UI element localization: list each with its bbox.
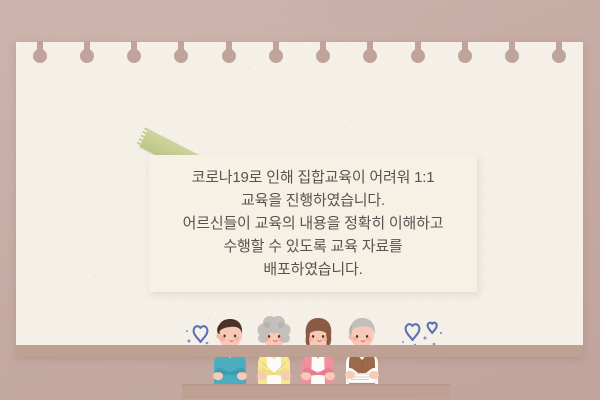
punch-hole bbox=[79, 41, 94, 63]
message-line: 수행할 수 있도록 교육 자료를 bbox=[223, 235, 402, 258]
notebook-paper-sheet: 코로나19로 인해 집합교육이 어려워 1:1 교육을 진행하였습니다. 어르신… bbox=[16, 42, 583, 357]
punch-hole bbox=[316, 41, 331, 63]
punch-hole bbox=[268, 41, 283, 63]
punch-hole bbox=[552, 41, 567, 63]
table-edge bbox=[182, 384, 450, 399]
punch-hole-slot bbox=[37, 41, 43, 53]
message-card: 코로나19로 인해 집합교육이 어려워 1:1 교육을 진행하였습니다. 어르신… bbox=[149, 155, 477, 292]
punch-hole bbox=[457, 41, 472, 63]
heart-left-icon bbox=[194, 326, 208, 342]
punch-hole-bore bbox=[127, 49, 141, 63]
message-line: 어르신들이 교육의 내용을 정확히 이해하고 bbox=[183, 212, 444, 235]
punch-hole-slot bbox=[462, 41, 468, 53]
punch-hole-bore bbox=[505, 49, 519, 63]
punch-hole-bore bbox=[458, 49, 472, 63]
punch-hole bbox=[505, 41, 520, 63]
punch-hole bbox=[410, 41, 425, 63]
punch-hole-bore bbox=[316, 49, 330, 63]
punch-hole-bore bbox=[411, 49, 425, 63]
punch-hole bbox=[32, 41, 47, 63]
punch-hole-slot bbox=[320, 41, 326, 53]
punch-hole-slot bbox=[415, 41, 421, 53]
message-line: 교육을 진행하였습니다. bbox=[241, 189, 385, 212]
punch-hole-bore bbox=[363, 49, 377, 63]
punch-hole bbox=[221, 41, 236, 63]
heart-right-icon bbox=[406, 323, 437, 340]
punch-hole-slot bbox=[367, 41, 373, 53]
message-line: 배포하였습니다. bbox=[263, 258, 362, 281]
punch-hole-bore bbox=[174, 49, 188, 63]
punch-hole-slot bbox=[226, 41, 232, 53]
punch-hole-bore bbox=[552, 49, 566, 63]
punch-hole-slot bbox=[556, 41, 562, 53]
punch-hole-bore bbox=[269, 49, 283, 63]
message-line: 코로나19로 인해 집합교육이 어려워 1:1 bbox=[192, 166, 435, 189]
punch-hole-slot bbox=[273, 41, 279, 53]
punch-hole-slot bbox=[178, 41, 184, 53]
punch-hole bbox=[174, 41, 189, 63]
punch-hole-bore bbox=[80, 49, 94, 63]
punch-hole-bore bbox=[222, 49, 236, 63]
punch-hole-row bbox=[16, 41, 583, 65]
punch-hole-slot bbox=[509, 41, 515, 53]
punch-hole-slot bbox=[84, 41, 90, 53]
punch-hole-bore bbox=[33, 49, 47, 63]
punch-hole-slot bbox=[131, 41, 137, 53]
table-surface bbox=[16, 345, 583, 357]
punch-hole bbox=[363, 41, 378, 63]
punch-hole bbox=[127, 41, 142, 63]
